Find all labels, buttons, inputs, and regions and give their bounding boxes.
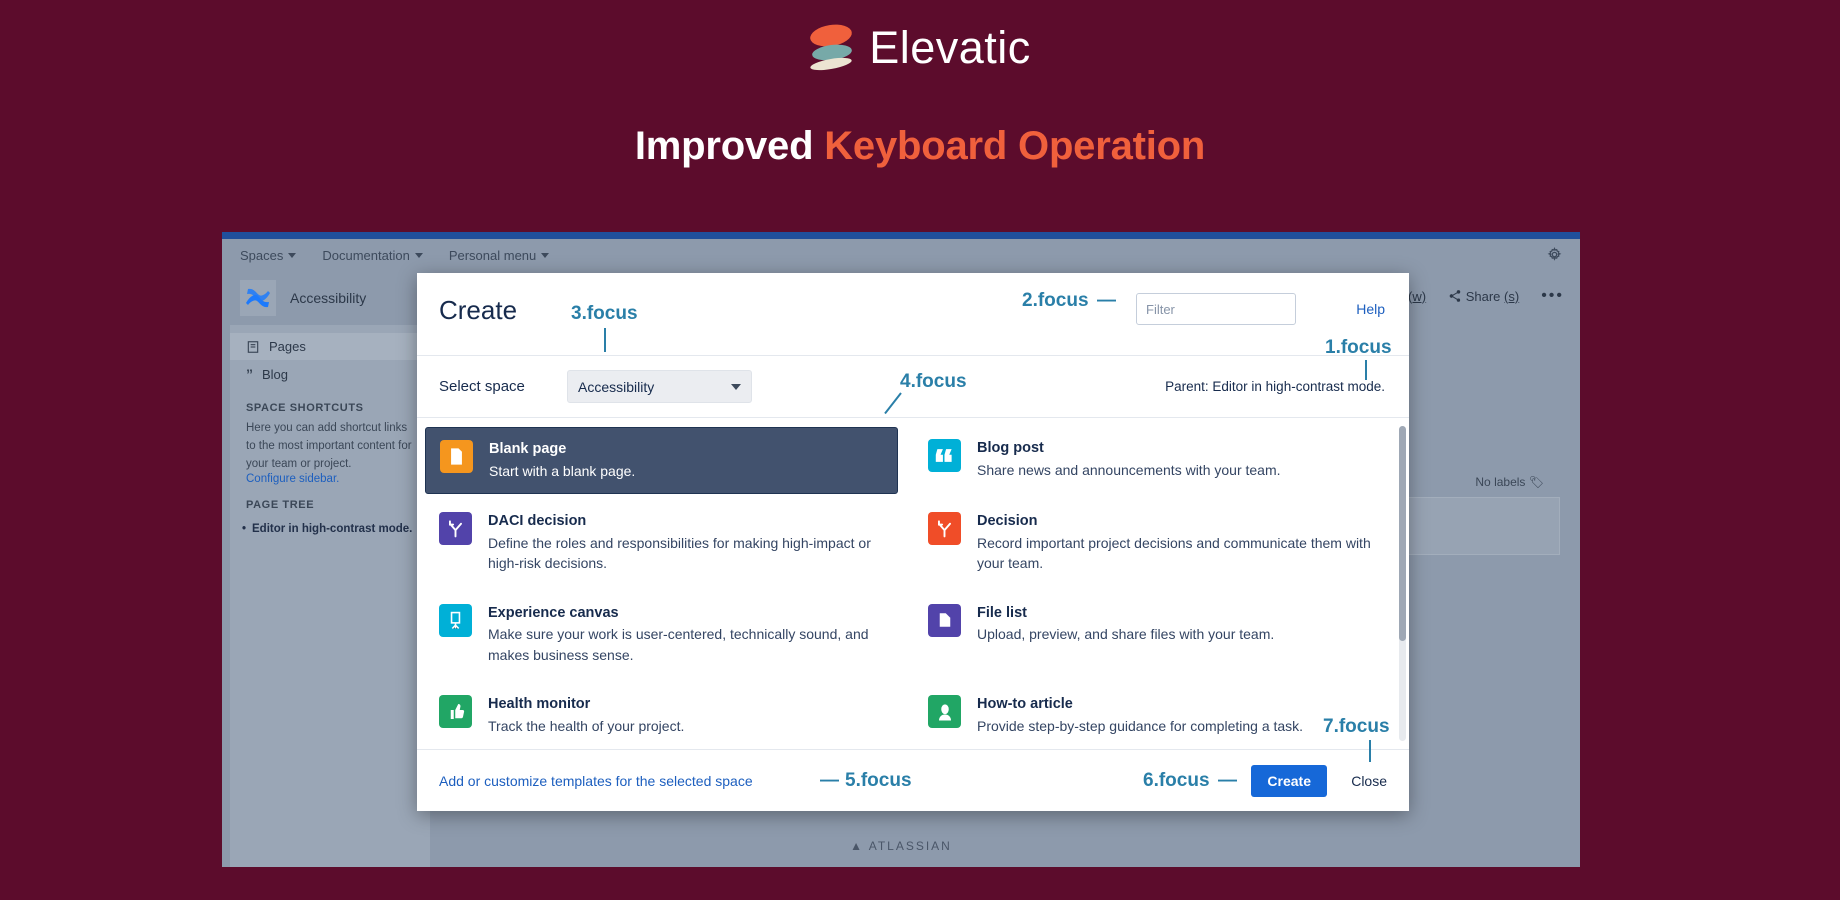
brand-name: Elevatic <box>869 22 1031 74</box>
decision-branch-icon <box>928 512 961 545</box>
page-title: Improved Keyboard Operation <box>0 124 1840 169</box>
confluence-space-icon <box>240 280 276 316</box>
template-description: Make sure your work is user-centered, te… <box>488 624 884 665</box>
template-grid-container: Blank pageStart with a blank page.Blog p… <box>417 417 1409 749</box>
template-card[interactable]: DACI decisionDefine the roles and respon… <box>425 500 898 585</box>
annotation-3-focus: 3.focus <box>571 303 638 325</box>
template-description: Start with a blank page. <box>489 461 635 481</box>
chevron-down-icon <box>288 253 296 258</box>
header-actions: ng (w) Share (s) ••• <box>1390 287 1564 305</box>
headline-accent: Keyboard Operation <box>824 124 1205 168</box>
space-shortcuts-heading: SPACE SHORTCUTS <box>230 388 430 420</box>
stacked-ellipses-logo-icon <box>809 23 853 73</box>
filter-placeholder: Filter <box>1146 302 1175 317</box>
window-title-bar <box>222 232 1580 239</box>
template-description: Share news and announcements with your t… <box>977 460 1281 480</box>
template-description: Provide step-by-step guidance for comple… <box>977 716 1303 736</box>
annotation-6-focus: 6.focus <box>1143 770 1210 792</box>
template-card[interactable]: File listUpload, preview, and share file… <box>914 592 1387 677</box>
template-description: Record important project decisions and c… <box>977 533 1373 574</box>
page-tree-item[interactable]: Editor in high-contrast mode. <box>230 517 430 535</box>
parent-note: Parent: Editor in high-contrast mode. <box>1165 379 1385 394</box>
atlassian-label: ATLASSIAN <box>869 839 952 853</box>
annotation-2-dash: — <box>1097 290 1116 312</box>
nav-item-spaces-label: Spaces <box>240 248 283 263</box>
template-title: DACI decision <box>488 512 884 531</box>
annotation-6-dash: — <box>1218 770 1237 792</box>
atlassian-logo-icon: ▲ <box>850 839 864 853</box>
template-title: Blank page <box>489 440 635 459</box>
customize-templates-link[interactable]: Add or customize templates for the selec… <box>439 773 753 789</box>
annotation-1-focus: 1.focus <box>1325 337 1392 359</box>
annotation-4-focus: 4.focus <box>900 371 967 393</box>
slide-root: Elevatic Improved Keyboard Operation Spa… <box>0 0 1840 900</box>
space-sidebar: Pages ” Blog SPACE SHORTCUTS Here you ca… <box>230 325 430 867</box>
dialog-header: Create Filter Help <box>417 273 1409 355</box>
dialog-title: Create <box>439 295 517 326</box>
more-icon[interactable]: ••• <box>1541 287 1564 305</box>
chevron-down-icon <box>731 384 741 390</box>
share-action[interactable]: Share (s) <box>1448 289 1519 304</box>
annotation-5-focus: 5.focus <box>845 770 912 792</box>
annotation-2-focus: 2.focus <box>1022 290 1089 312</box>
pages-icon <box>246 340 260 354</box>
help-link[interactable]: Help <box>1356 301 1385 317</box>
share-icon <box>1448 289 1462 303</box>
annotation-3-leader <box>604 328 606 352</box>
brand-header: Elevatic <box>0 22 1840 74</box>
sidebar-item-pages[interactable]: Pages <box>230 333 430 360</box>
chevron-down-icon <box>415 253 423 258</box>
nav-item-personal-menu[interactable]: Personal menu <box>449 248 549 263</box>
annotation-1-leader <box>1365 360 1367 380</box>
nav-item-personal-menu-label: Personal menu <box>449 248 536 263</box>
template-card[interactable]: Blog postShare news and announcements wi… <box>914 427 1387 494</box>
blank-page-icon <box>440 440 473 473</box>
space-name: Accessibility <box>290 290 366 306</box>
annotation-7-focus: 7.focus <box>1323 716 1390 738</box>
dialog-footer: Add or customize templates for the selec… <box>417 749 1409 811</box>
template-title: Blog post <box>977 439 1281 458</box>
template-description: Track the health of your project. <box>488 716 684 736</box>
template-card[interactable]: Blank pageStart with a blank page. <box>425 427 898 494</box>
template-title: Decision <box>977 512 1373 531</box>
file-folder-icon <box>928 604 961 637</box>
template-description: Upload, preview, and share files with yo… <box>977 624 1274 644</box>
easel-icon <box>439 604 472 637</box>
template-scrollbar[interactable] <box>1399 426 1406 741</box>
top-navigation: Spaces Documentation Personal menu <box>222 239 1580 271</box>
template-grid: Blank pageStart with a blank page.Blog p… <box>417 418 1395 749</box>
scrollbar-thumb[interactable] <box>1399 426 1406 641</box>
annotation-5-dash: — <box>820 770 839 792</box>
gear-icon[interactable] <box>1547 247 1562 262</box>
nav-item-documentation[interactable]: Documentation <box>322 248 422 263</box>
template-card[interactable]: Health monitorTrack the health of your p… <box>425 683 898 748</box>
template-description: Define the roles and responsibilities fo… <box>488 533 884 574</box>
create-button[interactable]: Create <box>1251 765 1327 797</box>
sidebar-item-blog[interactable]: ” Blog <box>230 360 430 388</box>
filter-input[interactable]: Filter <box>1136 293 1296 325</box>
no-labels-label: No labels <box>1475 475 1525 489</box>
nav-item-spaces[interactable]: Spaces <box>240 248 296 263</box>
template-card[interactable]: Experience canvasMake sure your work is … <box>425 592 898 677</box>
page-tree-heading: PAGE TREE <box>230 485 430 517</box>
space-shortcuts-text: Here you can add shortcut links to the m… <box>230 420 430 473</box>
decision-branch-icon <box>439 512 472 545</box>
space-select-value: Accessibility <box>578 379 654 395</box>
atlassian-footer-brand: ▲ ATLASSIAN <box>222 839 1580 853</box>
template-title: Experience canvas <box>488 604 884 623</box>
template-card[interactable]: How-to articleProvide step-by-step guida… <box>914 683 1387 748</box>
select-space-label: Select space <box>439 378 525 395</box>
annotation-7-leader <box>1369 740 1371 762</box>
space-select-dropdown[interactable]: Accessibility <box>567 370 752 403</box>
tag-icon: 🏷 <box>1529 475 1544 489</box>
template-card[interactable]: DecisionRecord important project decisio… <box>914 500 1387 585</box>
headline-white: Improved <box>635 124 824 168</box>
template-title: File list <box>977 604 1274 623</box>
close-button[interactable]: Close <box>1351 773 1387 789</box>
person-icon <box>928 695 961 728</box>
template-title: Health monitor <box>488 695 684 714</box>
thumbs-up-icon <box>439 695 472 728</box>
sidebar-item-blog-label: Blog <box>262 367 288 382</box>
chevron-down-icon <box>541 253 549 258</box>
blog-quote-icon <box>928 439 961 472</box>
sidebar-item-pages-label: Pages <box>269 339 306 354</box>
create-dialog: Create Filter Help Select space Accessib… <box>417 273 1409 811</box>
configure-sidebar-link[interactable]: Configure sidebar. <box>230 473 430 485</box>
no-labels-text: No labels 🏷 <box>1475 475 1544 489</box>
quote-icon: ” <box>246 366 253 382</box>
template-title: How-to article <box>977 695 1303 714</box>
nav-item-documentation-label: Documentation <box>322 248 409 263</box>
